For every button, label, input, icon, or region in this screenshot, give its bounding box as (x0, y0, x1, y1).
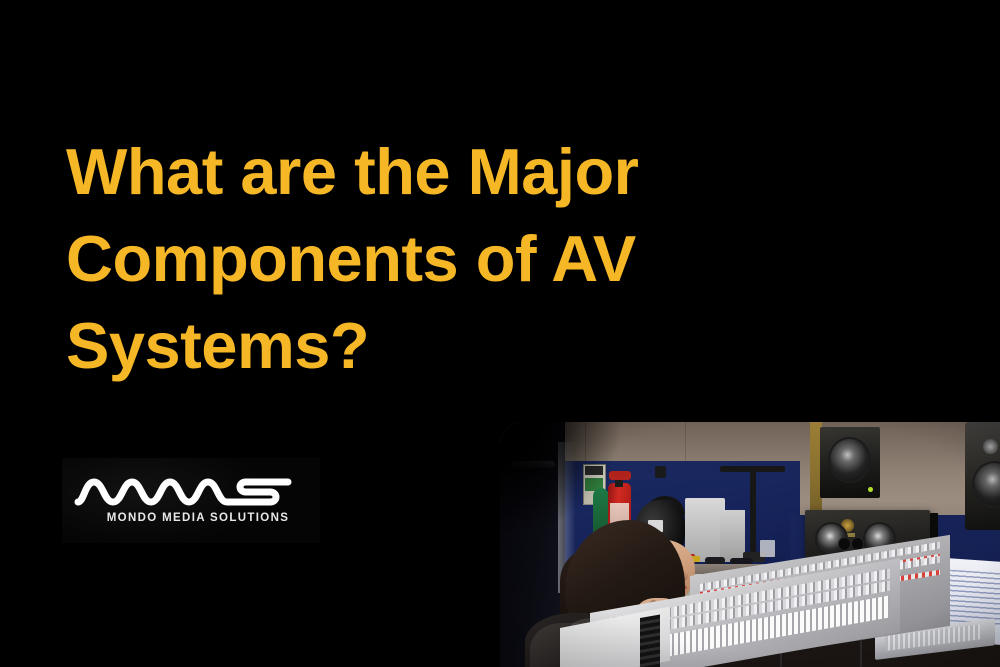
speaker-tweeter (983, 439, 998, 454)
speaker-power-led (868, 487, 873, 492)
extinguisher-handle (609, 471, 631, 480)
desk-monitor-screen-secondary (720, 510, 745, 561)
speaker-bass-port (838, 537, 851, 551)
sign-detail (585, 466, 603, 476)
console-dark-strip (640, 614, 660, 667)
brand-logo[interactable]: MONDO MEDIA SOLUTIONS (62, 458, 320, 543)
desk-item-dark (730, 558, 753, 564)
logo-wordmark: MONDO MEDIA SOLUTIONS (62, 512, 320, 524)
recording-studio-photo (500, 422, 1000, 667)
slide-canvas: What are the Major Components of AV Syst… (0, 0, 1000, 667)
desk-cup (760, 540, 775, 557)
page-title: What are the Major Components of AV Syst… (66, 128, 706, 389)
wall-hook (655, 466, 666, 478)
mic-boom-stand (750, 466, 756, 559)
speaker-woofer (828, 437, 871, 484)
door-handle (510, 461, 555, 468)
desk-monitor-screen (685, 498, 725, 562)
waveform-mms-monogram-icon (74, 470, 310, 512)
desk-item-dark (705, 557, 725, 564)
